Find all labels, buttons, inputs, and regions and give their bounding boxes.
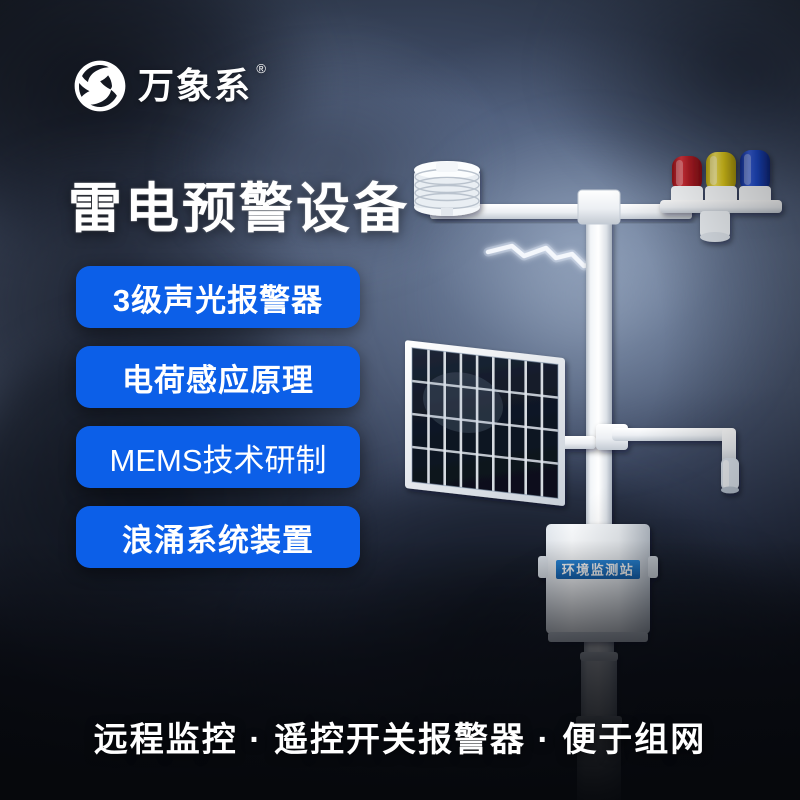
- feature-pill-list: 3级声光报警器 电荷感应原理 MEMS技术研制 浪涌系统装置: [76, 266, 360, 568]
- swirl-circle-logo-icon: [72, 58, 128, 114]
- brand-name: 万象系 ®: [138, 68, 252, 104]
- page-title: 雷电预警设备: [68, 164, 410, 243]
- bottom-fade-overlay: [0, 540, 800, 800]
- feature-pill-3[interactable]: MEMS技术研制: [76, 426, 360, 488]
- registered-trademark-icon: ®: [256, 62, 268, 75]
- brand-name-text: 万象系: [138, 65, 252, 106]
- brand-logo: 万象系 ®: [72, 58, 252, 114]
- feature-pill-2[interactable]: 电荷感应原理: [76, 346, 360, 408]
- bottom-tagline: 远程监控 · 遥控开关报警器 · 便于组网: [0, 712, 800, 761]
- feature-pill-4[interactable]: 浪涌系统装置: [76, 506, 360, 568]
- feature-pill-1[interactable]: 3级声光报警器: [76, 266, 360, 328]
- poster-canvas: 环境监测站 万象系 ® 雷电预警设备 3级声光报警器 电荷感应原理 MEMS技术…: [0, 0, 800, 800]
